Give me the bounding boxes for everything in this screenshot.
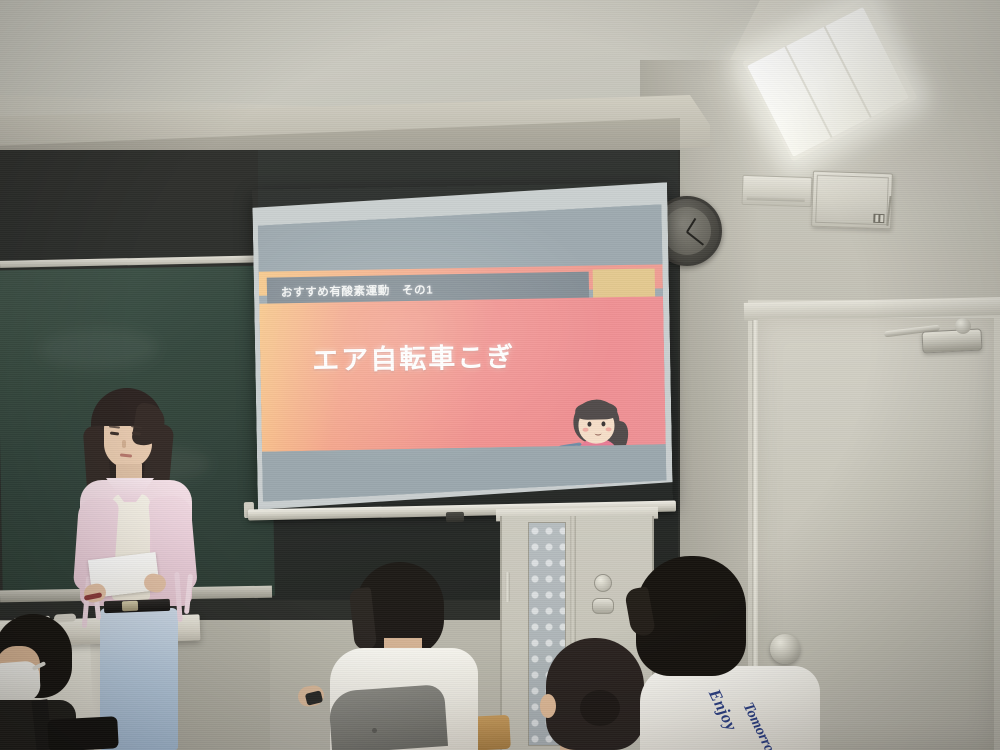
door-closer-body: [921, 328, 982, 353]
handheld-device: [305, 690, 323, 706]
sliding-door-handle[interactable]: [592, 598, 614, 614]
door-knob-icon[interactable]: [770, 634, 800, 664]
door-closer-pivot: [955, 318, 971, 334]
classroom-photo: おすすめ有酸素運動 その1 エア自転車こぎ: [0, 0, 1000, 750]
slide-header-text: おすすめ有酸素運動 その1: [281, 282, 433, 301]
chair-seat: [47, 716, 119, 750]
presentation-slide: おすすめ有酸素運動 その1 エア自転車こぎ: [258, 204, 667, 501]
hair-bun: [580, 690, 620, 726]
screen-canvas: おすすめ有酸素運動 その1 エア自転車こぎ: [258, 204, 667, 501]
slide-title: エア自転車こぎ: [312, 335, 543, 378]
door-lock-icon[interactable]: [594, 574, 612, 592]
air-conditioner-unit: [741, 175, 812, 207]
presenter: [60, 388, 210, 750]
sliding-door-hinge: [505, 572, 510, 602]
gray-backpack: [328, 684, 448, 750]
belt-buckle: [122, 601, 138, 612]
screen-pull-knob[interactable]: [446, 512, 464, 522]
slide-body: エア自転車こぎ: [259, 296, 666, 451]
wall-speaker: [811, 171, 893, 230]
projection-screen: おすすめ有酸素運動 その1 エア自転車こぎ: [252, 182, 673, 510]
